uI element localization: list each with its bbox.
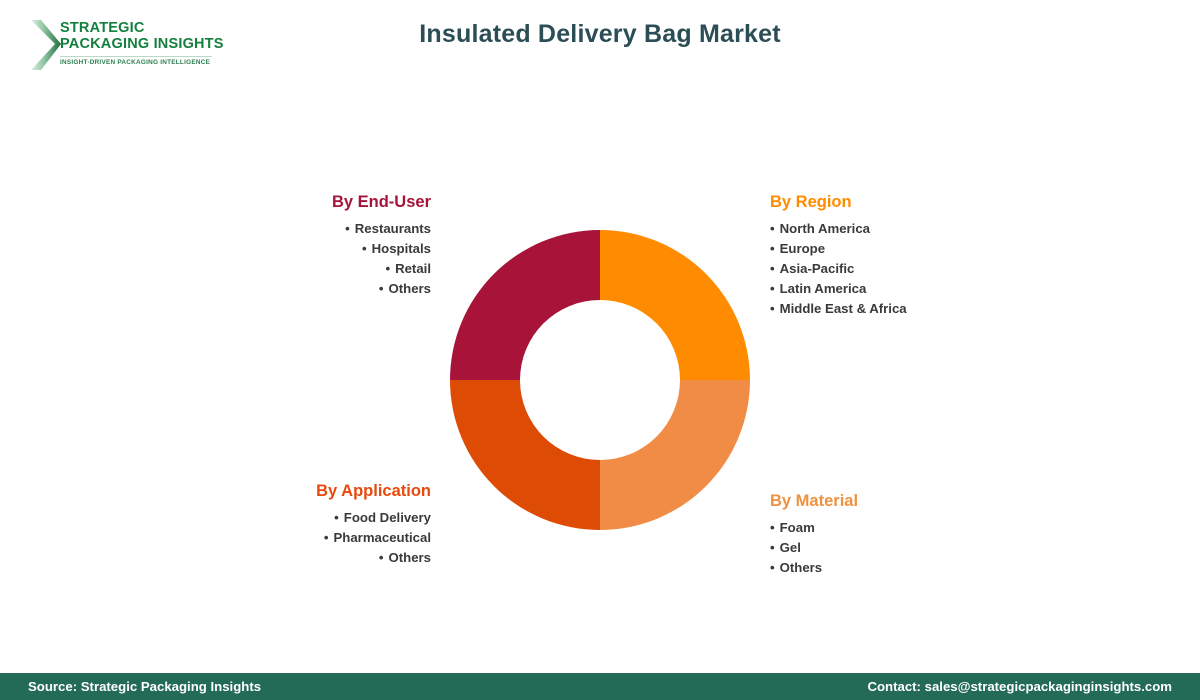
segment-material-list: Foam Gel Others bbox=[770, 518, 1070, 578]
donut-chart-svg bbox=[450, 230, 750, 530]
list-item: Others bbox=[200, 279, 431, 299]
segment-region: By Region North America Europe Asia-Paci… bbox=[770, 193, 1070, 319]
footer-bar: Source: Strategic Packaging Insights Con… bbox=[0, 673, 1200, 700]
footer-source: Source: Strategic Packaging Insights bbox=[28, 679, 261, 694]
list-item: Others bbox=[770, 558, 1070, 578]
segment-end-user: By End-User Restaurants Hospitals Retail… bbox=[200, 193, 431, 299]
list-item: Pharmaceutical bbox=[180, 528, 431, 548]
list-item: Hospitals bbox=[200, 239, 431, 259]
donut-slice-end-user[interactable] bbox=[450, 230, 600, 380]
segment-application-title: By Application bbox=[180, 482, 431, 501]
list-item: Middle East & Africa bbox=[770, 299, 1070, 319]
list-item: North America bbox=[770, 219, 1070, 239]
list-item: Restaurants bbox=[200, 219, 431, 239]
segment-region-title: By Region bbox=[770, 193, 1070, 212]
list-item: Others bbox=[180, 548, 431, 568]
donut-slice-region[interactable] bbox=[600, 230, 750, 380]
list-item: Retail bbox=[200, 259, 431, 279]
list-item: Foam bbox=[770, 518, 1070, 538]
logo-tagline: INSIGHT-DRIVEN PACKAGING INTELLIGENCE bbox=[60, 59, 224, 66]
page-title: Insulated Delivery Bag Market bbox=[0, 20, 1200, 49]
list-item: Latin America bbox=[770, 279, 1070, 299]
list-item: Asia-Pacific bbox=[770, 259, 1070, 279]
segment-application-list: Food Delivery Pharmaceutical Others bbox=[180, 508, 431, 568]
segment-region-list: North America Europe Asia-Pacific Latin … bbox=[770, 219, 1070, 319]
segment-application: By Application Food Delivery Pharmaceuti… bbox=[180, 482, 431, 568]
footer-contact[interactable]: Contact: sales@strategicpackaginginsight… bbox=[867, 679, 1172, 694]
segment-end-user-list: Restaurants Hospitals Retail Others bbox=[200, 219, 431, 299]
list-item: Gel bbox=[770, 538, 1070, 558]
donut-chart bbox=[450, 230, 750, 530]
segment-material: By Material Foam Gel Others bbox=[770, 492, 1070, 578]
donut-slice-material[interactable] bbox=[600, 380, 750, 530]
donut-slice-application[interactable] bbox=[450, 380, 600, 530]
list-item: Food Delivery bbox=[180, 508, 431, 528]
segment-material-title: By Material bbox=[770, 492, 1070, 511]
segment-end-user-title: By End-User bbox=[200, 193, 431, 212]
list-item: Europe bbox=[770, 239, 1070, 259]
logo-divider bbox=[60, 56, 212, 57]
